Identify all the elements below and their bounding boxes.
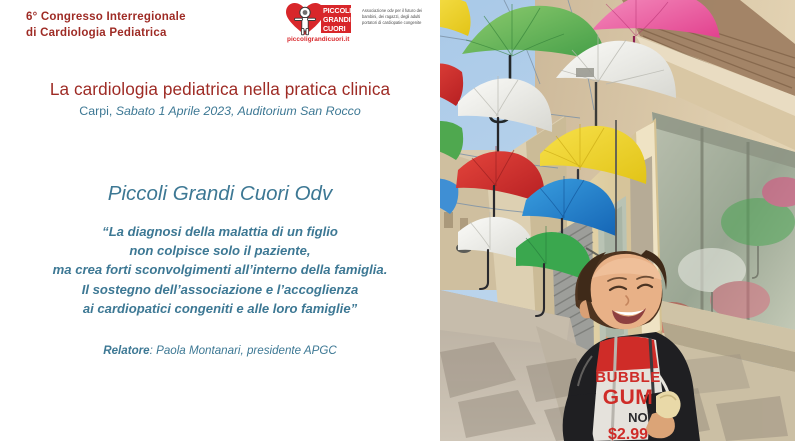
svg-text:GUM: GUM [603,386,654,409]
congress-title-line-2: di Cardiologia Pediatrica [26,25,276,41]
speaker-role-label: Relatore [103,344,149,357]
presentation-slide: 6° Congresso Interregionale di Cardiolog… [0,0,795,441]
text-panel: 6° Congresso Interregionale di Cardiolog… [0,0,440,441]
organization-logo: PICCOLI GRANDI CUORI piccoligrandicuori.… [286,2,432,48]
logo-heart-wrap [286,2,324,36]
speaker-credit: Relatore: Paola Montanari, presidente AP… [0,344,440,357]
logo-word-line-3: CUORI [323,25,351,34]
heart-icon [286,3,324,36]
svg-text:BUBBLE: BUBBLE [595,369,661,386]
quote-block: “La diagnosi della malattia di un figlio… [0,222,440,318]
speaker-name: : Paola Montanari, presidente APGC [150,344,337,357]
congress-title: 6° Congresso Interregionale di Cardiolog… [26,9,276,42]
quote-line: “La diagnosi della malattia di un figlio [0,222,440,241]
congress-title-line-1: 6° Congresso Interregionale [26,9,276,25]
page-title: La cardiologia pediatrica nella pratica … [0,79,440,100]
association-name: Piccoli Grandi Cuori Odv [0,182,440,206]
quote-line: Il sostegno dell’associazione e l’accogl… [0,280,440,299]
logo-tagline: Associazione odv per il futuro dei bambi… [362,8,432,27]
quote-line: ma crea forti sconvolgimenti all’interno… [0,260,440,279]
logo-website-url: piccoligrandicuori.it [287,36,349,43]
event-photo: BUBBLE GUM NOW $2.99 [440,0,795,441]
quote-line: non colpisce solo il paziente, [0,241,440,260]
event-date-venue: Sabato 1 Aprile 2023, Auditorium San Roc… [116,104,361,118]
event-city: Carpi, [79,104,112,118]
quote-line: ai cardiopatici congeniti e alle loro fa… [0,299,440,318]
logo-wordmark: PICCOLI GRANDI CUORI [321,5,351,33]
svg-text:$2.99: $2.99 [608,426,648,441]
event-details: Carpi, Sabato 1 Aprile 2023, Auditorium … [0,104,440,118]
